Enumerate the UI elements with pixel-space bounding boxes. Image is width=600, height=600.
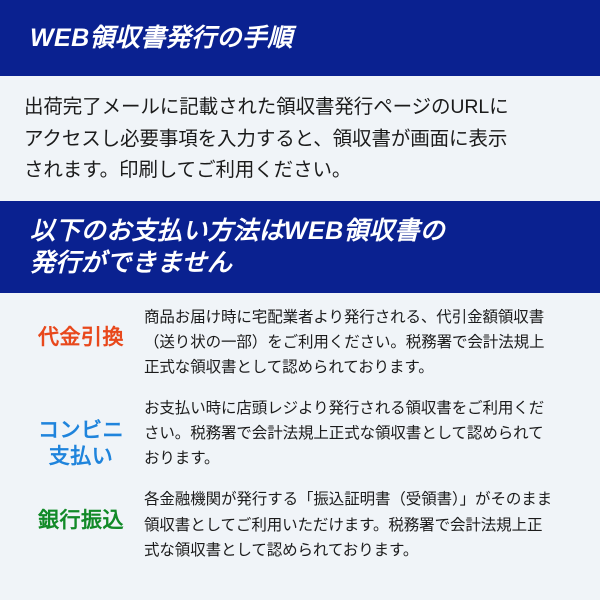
payment-method-row-bank: 銀行振込 各金融機関が発行する「振込証明書（受領書）」がそのまま 領収書としてご… (18, 487, 582, 562)
payment-methods-list: 代金引換 商品お届け時に宅配業者より発行される、代引金額領収書 （送り状の一部）… (0, 293, 600, 563)
intro-paragraph: 出荷完了メールに記載された領収書発行ページのURLに アクセスし必要事項を入力す… (24, 92, 578, 187)
payment-method-row-cod: 代金引換 商品お届け時に宅配業者より発行される、代引金額領収書 （送り状の一部）… (18, 305, 582, 380)
intro-section: 出荷完了メールに記載された領収書発行ページのURLに アクセスし必要事項を入力す… (0, 76, 600, 201)
notice-title: 以下のお支払い方法はWEB領収書の 発行ができません (0, 215, 445, 279)
payment-method-label-bank: 銀行振込 (18, 487, 144, 534)
payment-method-description-cod: 商品お届け時に宅配業者より発行される、代引金額領収書 （送り状の一部）をご利用く… (144, 305, 582, 380)
receipt-info-page: WEB領収書発行の手順 出荷完了メールに記載された領収書発行ページのURLに ア… (0, 0, 600, 600)
payment-method-description-konbini: お支払い時に店頭レジより発行される領収書をご利用くだ さい。税務署で会計法規上正… (144, 396, 582, 471)
payment-method-description-bank: 各金融機関が発行する「振込証明書（受領書）」がそのまま 領収書としてご利用いただ… (144, 487, 582, 562)
notice-header-band: 以下のお支払い方法はWEB領収書の 発行ができません (0, 201, 600, 293)
payment-method-label-cod: 代金引換 (18, 305, 144, 351)
page-title: WEB領収書発行の手順 (0, 22, 293, 54)
payment-method-row-konbini: コンビニ 支払い お支払い時に店頭レジより発行される領収書をご利用くだ さい。税… (18, 396, 582, 471)
payment-method-label-konbini: コンビニ 支払い (18, 396, 144, 469)
main-header-band: WEB領収書発行の手順 (0, 0, 600, 76)
